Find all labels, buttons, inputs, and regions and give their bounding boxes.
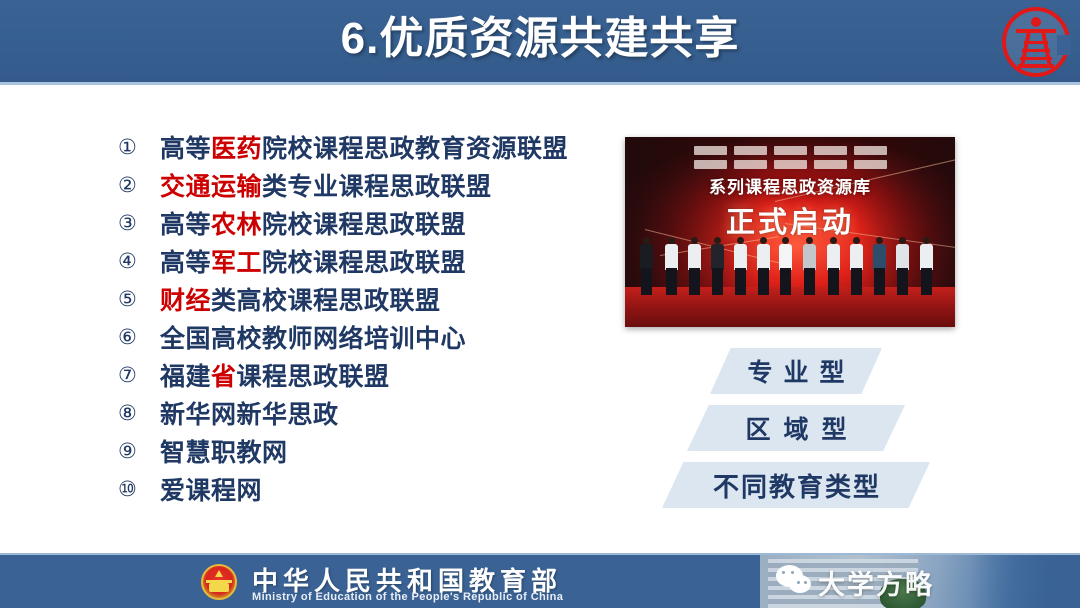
- list-item: ④ 高等军工院校课程思政联盟: [118, 242, 618, 280]
- list-item-label: 福建省课程思政联盟: [160, 357, 390, 393]
- wechat-icon: [776, 565, 812, 595]
- list-item-label: 爱课程网: [160, 471, 262, 507]
- pyramid-tier-bottom-label: 不同教育类型: [711, 467, 881, 504]
- list-item: ⑧ 新华网新华思政: [118, 394, 618, 432]
- alliance-list: ① 高等医药院校课程思政教育资源联盟 ② 交通运输类专业课程思政联盟 ③ 高等农…: [118, 128, 618, 508]
- list-item-number: ⑤: [118, 287, 160, 311]
- list-item-label: 高等医药院校课程思政教育资源联盟: [160, 129, 568, 165]
- national-emblem-icon: [198, 561, 240, 603]
- ceremony-participants: [625, 233, 955, 295]
- list-item-number: ④: [118, 249, 160, 273]
- list-item-number: ⑧: [118, 401, 160, 425]
- page-title: 6.优质资源共建共享: [0, 8, 1080, 70]
- list-item-number: ⑥: [118, 325, 160, 349]
- list-item-number: ⑦: [118, 363, 160, 387]
- pyramid-tier-top-label: 专业型: [736, 353, 855, 389]
- watermark-label: 大学方略: [818, 563, 934, 602]
- screen-headline: 系列课程思政资源库: [625, 173, 955, 198]
- list-item: ③ 高等农林院校课程思政联盟: [118, 204, 618, 242]
- list-item-number: ⑨: [118, 439, 160, 463]
- wechat-watermark: 大学方略: [776, 561, 952, 605]
- pyramid-tier-top: 专业型: [710, 348, 882, 394]
- ministry-name-en: Ministry of Education of the People's Re…: [252, 591, 563, 603]
- list-item-number: ①: [118, 135, 160, 159]
- list-item: ⑦ 福建省课程思政联盟: [118, 356, 618, 394]
- list-item: ① 高等医药院校课程思政教育资源联盟: [118, 128, 618, 166]
- list-item-label: 财经类高校课程思政联盟: [160, 281, 441, 317]
- list-item: ② 交通运输类专业课程思政联盟: [118, 166, 618, 204]
- list-item: ⑤ 财经类高校课程思政联盟: [118, 280, 618, 318]
- list-item-label: 交通运输类专业课程思政联盟: [160, 167, 492, 203]
- pyramid-tier-bottom: 不同教育类型: [662, 462, 930, 508]
- list-item-number: ③: [118, 211, 160, 235]
- list-item-label: 智慧职教网: [160, 433, 288, 469]
- list-item-label: 高等农林院校课程思政联盟: [160, 205, 466, 241]
- red-circular-tower-emblem-icon: [1002, 7, 1070, 77]
- list-item: ⑩ 爱课程网: [118, 470, 618, 508]
- footer-gradient-overlay: [970, 555, 1080, 608]
- list-item-label: 新华网新华思政: [160, 395, 339, 431]
- slide-footer: 中华人民共和国教育部 Ministry of Education of the …: [0, 553, 1080, 608]
- list-item: ⑨ 智慧职教网: [118, 432, 618, 470]
- list-item-number: ②: [118, 173, 160, 197]
- sponsor-logo-strip: [685, 146, 895, 169]
- slide-header: 6.优质资源共建共享: [0, 0, 1080, 85]
- pyramid-tier-middle-label: 区域型: [732, 410, 859, 446]
- pyramid-tier-middle: 区域型: [687, 405, 905, 451]
- launch-ceremony-photo: 系列课程思政资源库 正式启动: [625, 137, 955, 327]
- list-item-label: 高等军工院校课程思政联盟: [160, 243, 466, 279]
- list-item: ⑥ 全国高校教师网络培训中心: [118, 318, 618, 356]
- list-item-label: 全国高校教师网络培训中心: [160, 319, 466, 355]
- education-type-pyramid: 专业型 区域型 不同教育类型: [660, 348, 960, 526]
- list-item-number: ⑩: [118, 477, 160, 501]
